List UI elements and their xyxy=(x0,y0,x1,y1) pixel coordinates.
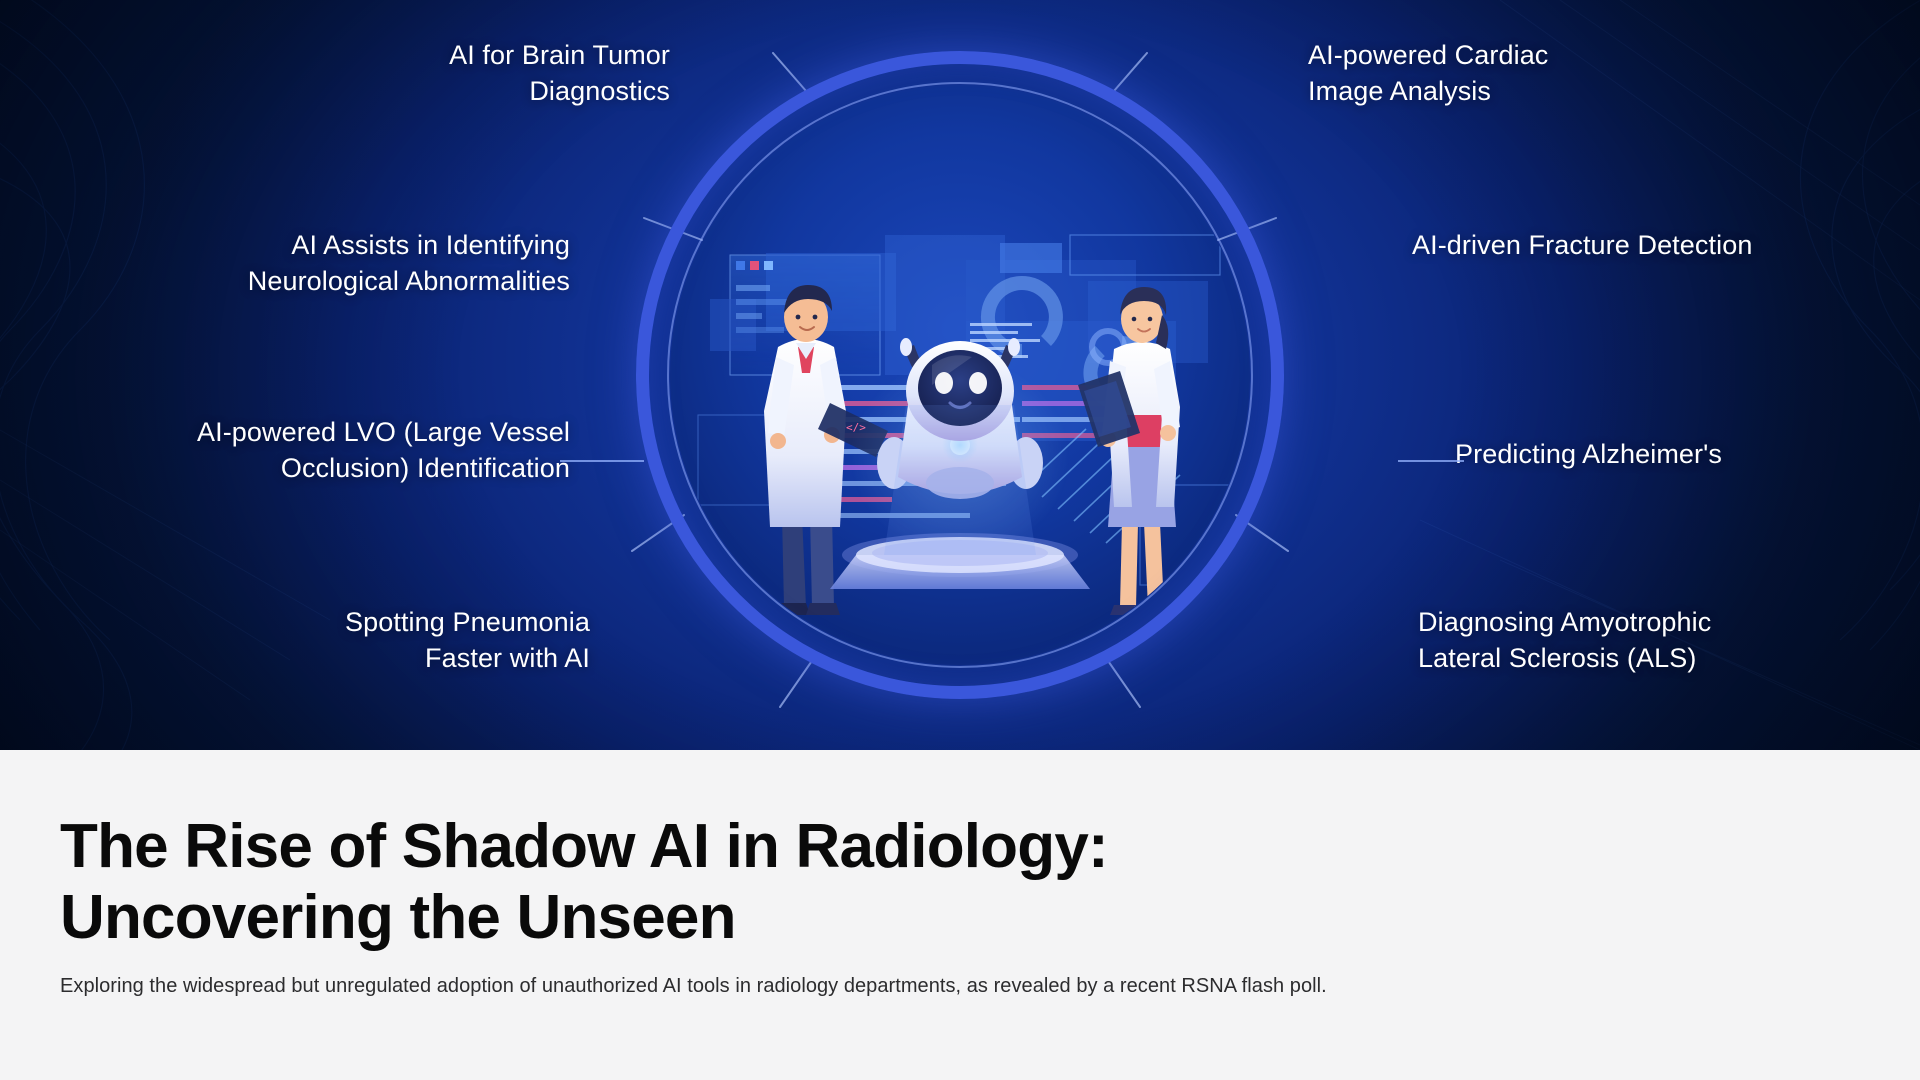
callout-label-lvo: AI-powered LVO (Large Vessel Occlusion) … xyxy=(50,415,570,486)
hero-banner: </> xyxy=(0,0,1920,750)
callout-label-cardiac: AI-powered Cardiac Image Analysis xyxy=(1308,38,1738,109)
callout-label-neurological: AI Assists in Identifying Neurological A… xyxy=(130,228,570,299)
leader-line-alzheimers xyxy=(1398,460,1464,462)
callout-label-brain-tumor: AI for Brain Tumor Diagnostics xyxy=(300,38,670,109)
callout-label-fracture: AI-driven Fracture Detection xyxy=(1412,228,1882,264)
leader-line-lvo xyxy=(560,460,644,462)
callout-label-pneumonia: Spotting Pneumonia Faster with AI xyxy=(230,605,590,676)
page-title: The Rise of Shadow AI in Radiology: Unco… xyxy=(60,812,1460,953)
callout-label-alzheimers: Predicting Alzheimer's xyxy=(1455,437,1875,473)
article-header-section: The Rise of Shadow AI in Radiology: Unco… xyxy=(0,750,1920,1080)
page-subtitle: Exploring the widespread but unregulated… xyxy=(60,975,1920,998)
callout-label-als: Diagnosing Amyotrophic Lateral Sclerosis… xyxy=(1418,605,1838,676)
circle-outer-ring xyxy=(636,51,1284,699)
central-illustration-scene: </> xyxy=(600,0,1320,750)
